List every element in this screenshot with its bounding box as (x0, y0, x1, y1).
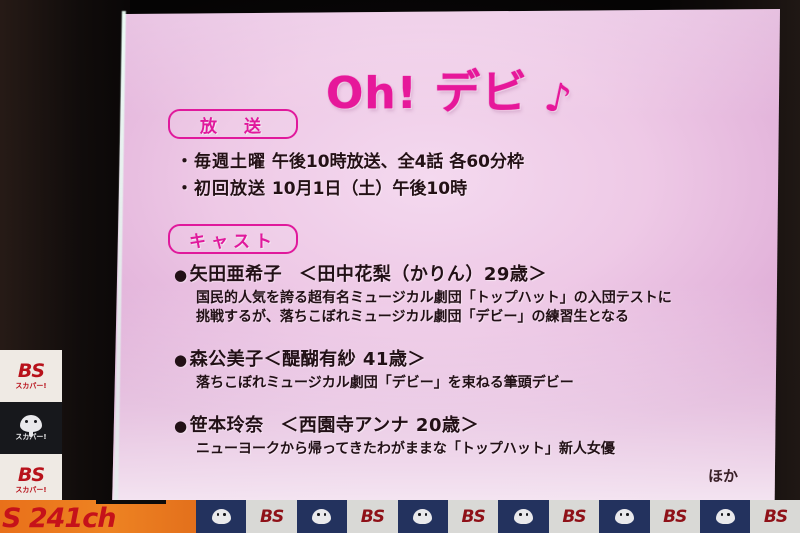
bullet-dot-icon: ・ (176, 179, 193, 199)
mascot-icon (20, 415, 42, 432)
sponsor-subtext: スカパー! (15, 487, 46, 495)
bullet-dot-icon: ・ (176, 152, 193, 172)
sponsor-tile-bs: BS スカパー! (0, 350, 62, 402)
bs-logo-text: BS (260, 507, 283, 527)
projection-screen: Oh! デビ ♪ 放 送 ・毎週土曜 午後10時放送、全4話 各60分枠 ・初回… (108, 8, 780, 508)
filled-circle-icon: ● (174, 266, 188, 284)
cast-description-line: ニューヨークから帰ってきたわがままな「トップハット」新人女優 (196, 440, 754, 459)
cast-entry: ●矢田亜希子 ＜田中花梨（かりん）29歳＞ 国民的人気を誇る超有名ミュージカル劇… (174, 260, 754, 327)
mascot-icon (312, 509, 331, 524)
cast-role-name: ＜西園寺アンナ 20歳＞ (280, 415, 479, 436)
sponsor-tile-mascot (398, 500, 448, 533)
broadcast-line: ・毎週土曜 午後10時放送、全4話 各60分枠 (176, 149, 524, 176)
sponsor-tile-bs: BS (750, 500, 800, 533)
sponsor-tile-mascot (297, 500, 347, 533)
mascot-icon (716, 509, 735, 524)
broadcast-line-text: 10月1日（土）午後10時 (272, 179, 467, 199)
slide-content: Oh! デビ ♪ 放 送 ・毎週土曜 午後10時放送、全4話 各60分枠 ・初回… (108, 8, 780, 508)
sponsor-tile-row: BSBSBSBSBSBS (196, 500, 800, 533)
sponsor-tile-mascot: スカパー! (0, 402, 62, 454)
section-header-cast: キャスト (168, 224, 298, 254)
section-header-broadcast: 放 送 (168, 109, 298, 139)
cast-actor-name: 森公美子 (190, 349, 264, 370)
mascot-icon (615, 509, 634, 524)
bs-logo-text: BS (663, 507, 686, 527)
cast-list: ●矢田亜希子 ＜田中花梨（かりん）29歳＞ 国民的人気を誇る超有名ミュージカル劇… (174, 260, 754, 477)
bottom-sponsor-strip: S 241ch BSBSBSBSBSBS (0, 500, 800, 533)
sponsor-subtext: スカパー! (15, 383, 46, 391)
logo-latin-text: Oh! (326, 68, 418, 119)
cast-actor-name: 笹本玲奈 (190, 415, 264, 436)
sponsor-tile-mascot (599, 500, 649, 533)
filled-circle-icon: ● (174, 351, 188, 369)
sponsor-tile-bs: BS (549, 500, 599, 533)
cast-entry-heading: ●森公美子＜醍醐有紗 41歳＞ (174, 345, 754, 371)
sponsor-tile-mascot (700, 500, 750, 533)
sponsor-tile-bs: BS (246, 500, 296, 533)
sponsor-tile-mascot (498, 500, 548, 533)
cast-description-line: 落ちこぼれミュージカル劇団「デビー」を束ねる筆頭デビー (196, 374, 754, 393)
photo-of-presentation-stage: Oh! デビ ♪ 放 送 ・毎週土曜 午後10時放送、全4話 各60分枠 ・初回… (0, 0, 800, 533)
show-title-logo: Oh! デビ ♪ (326, 56, 573, 122)
mascot-icon (413, 509, 432, 524)
channel-number-text: S 241ch (0, 505, 115, 533)
cast-entry: ●森公美子＜醍醐有紗 41歳＞ 落ちこぼれミュージカル劇団「デビー」を束ねる筆頭… (174, 345, 754, 393)
cast-role-name: ＜田中花梨（かりん）29歳＞ (299, 264, 547, 285)
cast-role-name: ＜醍醐有紗 41歳＞ (264, 349, 426, 370)
cast-description-line: 挑戦するが、落ちこぼれミュージカル劇団「デビー」の練習生となる (196, 308, 754, 327)
mascot-icon (514, 509, 533, 524)
cast-actor-name: 矢田亜希子 (190, 264, 283, 285)
sponsor-tile-bs: BS (448, 500, 498, 533)
sponsor-tile-bs: BS (347, 500, 397, 533)
broadcast-line-lead: 毎週土曜 (194, 152, 266, 172)
logo-japanese-text: デビ (434, 65, 528, 119)
sponsor-tile-mascot (196, 500, 246, 533)
sponsor-tile-bs: BS (650, 500, 700, 533)
broadcast-line: ・初回放送 10月1日（土）午後10時 (176, 176, 524, 203)
broadcast-line-lead: 初回放送 (194, 179, 266, 199)
cast-description-line: 国民的人気を誇る超有名ミュージカル劇団「トップハット」の入団テストに (196, 289, 754, 308)
mascot-icon (212, 509, 231, 524)
strip-dark-notch (96, 500, 166, 504)
bs-logo-text: BS (18, 466, 44, 485)
filled-circle-icon: ● (174, 417, 188, 435)
cast-entry-heading: ●笹本玲奈 ＜西園寺アンナ 20歳＞ (174, 411, 754, 437)
bs-logo-text: BS (462, 507, 485, 527)
channel-banner: S 241ch (0, 500, 196, 533)
broadcast-info-list: ・毎週土曜 午後10時放送、全4話 各60分枠 ・初回放送 10月1日（土）午後… (176, 149, 524, 203)
bs-logo-text: BS (764, 507, 787, 527)
left-sponsor-banner: BS スカパー! スカパー! BS スカパー! (0, 350, 62, 510)
broadcast-line-text: 午後10時放送、全4話 各60分枠 (272, 152, 524, 172)
logo-flourish-icon: ♪ (541, 74, 577, 125)
bs-logo-text: BS (18, 362, 44, 381)
cast-entry-heading: ●矢田亜希子 ＜田中花梨（かりん）29歳＞ (174, 260, 754, 286)
sponsor-tile-bs: BS スカパー! (0, 454, 62, 506)
bs-logo-text: BS (562, 507, 585, 527)
bs-logo-text: BS (361, 507, 384, 527)
slide-footnote: ほか (708, 465, 738, 486)
cast-entry: ●笹本玲奈 ＜西園寺アンナ 20歳＞ ニューヨークから帰ってきたわがままな「トッ… (174, 411, 754, 459)
